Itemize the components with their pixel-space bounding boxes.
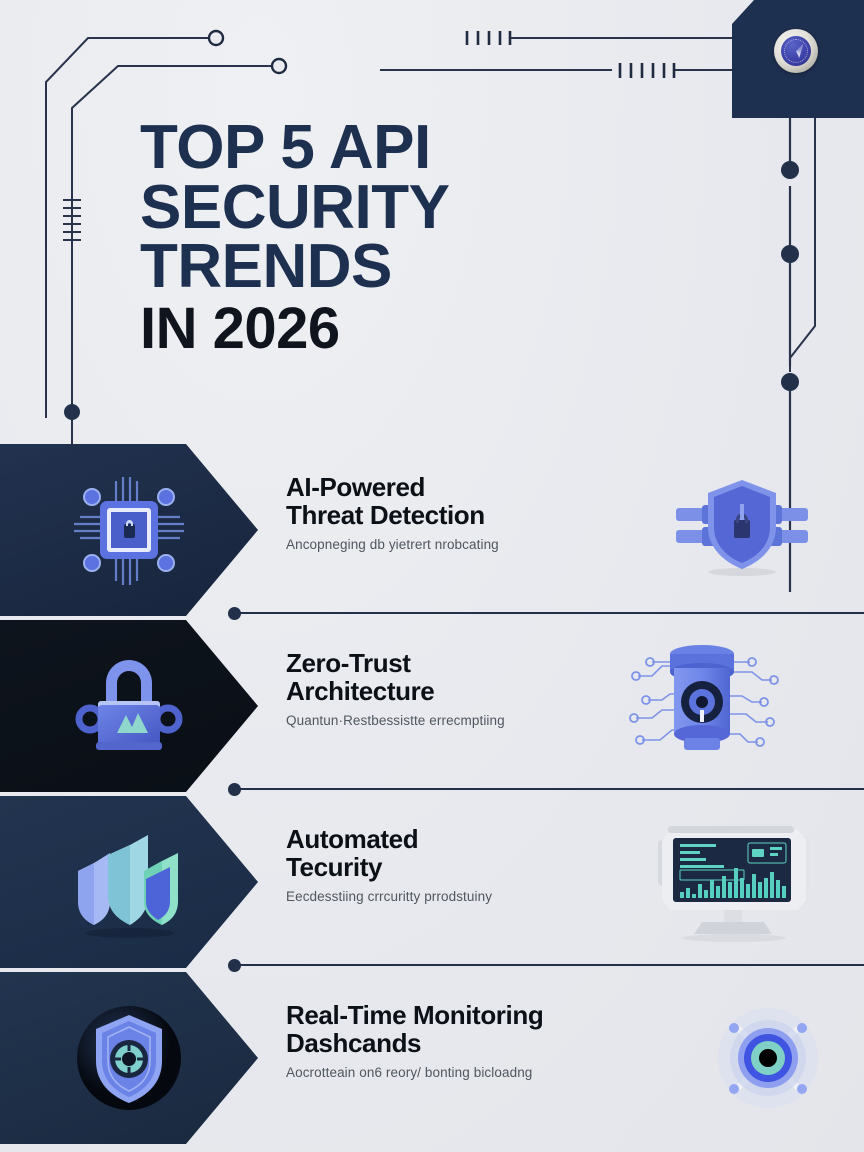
shield-connector-lock-icon (672, 472, 812, 576)
trace-right-2 (790, 118, 815, 372)
trend-panel-2 (0, 620, 258, 792)
trend-title-4-line2: Dashcands (286, 1030, 686, 1058)
row-divider-3 (237, 964, 864, 966)
corner-panel (732, 0, 864, 118)
infographic-poster: TOP 5 API SECURITY TRENDS IN 2026 (0, 0, 864, 1152)
monitor-dashboard-icon (640, 816, 830, 944)
trend-title-1-line2: Threat Detection (286, 502, 686, 530)
trend-title-4-line1: Real-Time Monitoring (286, 1002, 686, 1030)
trend-row-3[interactable]: Automated Tecurity Eecdesstiing crrcurit… (0, 796, 864, 968)
trend-row-1[interactable]: AI-Powered Threat Detection Ancopneging … (0, 444, 864, 616)
page-title: TOP 5 API SECURITY TRENDS IN 2026 (140, 118, 740, 356)
trend-text-4: Real-Time Monitoring Dashcands Aocrottea… (286, 1002, 686, 1081)
shield-crosshair-icon (70, 999, 188, 1117)
title-line-3: TRENDS (140, 237, 740, 297)
ai-chip-lock-icon (70, 471, 188, 589)
trend-title-3-line1: Automated (286, 826, 686, 854)
tick-marks-2 (620, 63, 674, 78)
trace-node-dot-right-2 (781, 245, 799, 263)
trend-subtitle-3: Eecdesstiing crrcuritty prrodstuiny (286, 889, 686, 905)
trace-node-circle-2 (272, 59, 286, 73)
trend-title-3-line2: Tecurity (286, 854, 686, 882)
padlock-icon (70, 647, 188, 765)
title-line-2: SECURITY (140, 178, 740, 238)
trend-text-3: Automated Tecurity Eecdesstiing crrcurit… (286, 826, 686, 905)
trend-row-2[interactable]: Zero-Trust Architecture Quantun·Restbess… (0, 620, 864, 792)
title-line-1: TOP 5 API (140, 118, 740, 178)
trace-node-dot-left (64, 404, 80, 420)
trend-subtitle-1: Ancopneging db yietrert nrobcating (286, 537, 686, 553)
row-divider-1 (237, 612, 864, 614)
trend-text-1: AI-Powered Threat Detection Ancopneging … (286, 474, 686, 553)
row-divider-2 (237, 788, 864, 790)
trend-row-4[interactable]: Real-Time Monitoring Dashcands Aocrottea… (0, 972, 864, 1144)
trend-panel-4 (0, 972, 258, 1144)
trend-panel-1 (0, 444, 258, 616)
triple-shield-isometric-icon (70, 823, 188, 941)
trace-node-circle-1 (209, 31, 223, 45)
trace-resistor-ladder (63, 196, 81, 420)
tick-marks-1 (467, 31, 510, 45)
trend-subtitle-4: Aocrotteain on6 reory/ bonting bicloadng (286, 1065, 686, 1081)
title-line-4: IN 2026 (140, 301, 740, 357)
database-vault-circuit-icon (622, 638, 782, 774)
radar-eye-icon (704, 994, 832, 1122)
compass-seal-icon (774, 29, 818, 73)
trace-node-dot-right-3 (781, 373, 799, 391)
trend-title-1-line1: AI-Powered (286, 474, 686, 502)
trace-node-dot-right-1 (781, 161, 799, 179)
trend-panel-3 (0, 796, 258, 968)
